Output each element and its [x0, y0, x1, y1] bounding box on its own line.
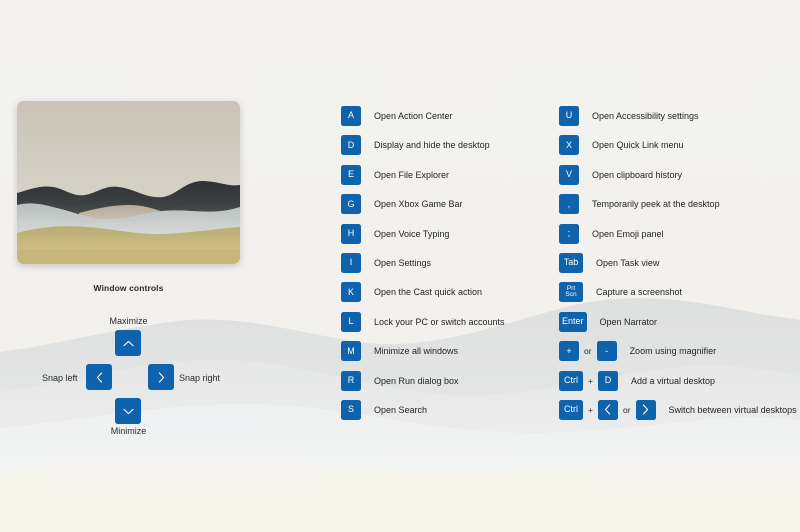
snap-left-label: Snap left — [42, 373, 78, 383]
shortcut-key[interactable]: I — [341, 253, 361, 273]
shortcut-row: AOpen Action Center — [341, 106, 551, 126]
key-joiner: + — [583, 405, 598, 415]
chevron-left-icon — [604, 404, 611, 415]
minimize-label: Minimize — [17, 426, 240, 436]
chevron-right-icon — [642, 404, 649, 415]
shortcut-list-right: UOpen Accessibility settingsXOpen Quick … — [559, 106, 797, 429]
shortcut-row: IOpen Settings — [341, 253, 551, 273]
shortcut-key[interactable]: V — [559, 165, 579, 185]
shortcut-key[interactable]: H — [341, 224, 361, 244]
shortcut-key-label: E — [348, 170, 354, 179]
shortcut-key[interactable]: A — [341, 106, 361, 126]
shortcut-key-label: X — [566, 141, 572, 150]
shortcut-row: MMinimize all windows — [341, 341, 551, 361]
shortcut-row: Ctrl+orSwitch between virtual desktops — [559, 400, 797, 420]
shortcut-row: KOpen the Cast quick action — [341, 282, 551, 302]
shortcut-key-label: A — [348, 111, 354, 120]
shortcut-key[interactable]: K — [341, 282, 361, 302]
shortcut-row: XOpen Quick Link menu — [559, 135, 797, 155]
shortcut-row: EOpen File Explorer — [341, 165, 551, 185]
shortcut-list-left: AOpen Action CenterDDisplay and hide the… — [341, 106, 551, 429]
shortcut-key-label: U — [566, 111, 573, 120]
window-controls-diagram: Window controls Maximize Snap left Snap … — [17, 283, 240, 443]
shortcut-row: ROpen Run dialog box — [341, 371, 551, 391]
shortcut-description: Switch between virtual desktops — [669, 405, 797, 415]
shortcut-key[interactable]: Tab — [559, 253, 583, 273]
shortcut-description: Open Narrator — [600, 317, 658, 327]
shortcut-key[interactable]: - — [597, 341, 617, 361]
shortcut-description: Capture a screenshot — [596, 287, 682, 297]
shortcut-key-label: H — [348, 229, 355, 238]
shortcut-row: ,Temporarily peek at the desktop — [559, 194, 797, 214]
shortcut-key-label: Ctrl — [564, 405, 578, 414]
shortcut-row: Ctrl+DAdd a virtual desktop — [559, 371, 797, 391]
shortcut-key[interactable]: S — [341, 400, 361, 420]
shortcut-key[interactable]: Ctrl — [559, 400, 583, 420]
minimize-button[interactable] — [115, 398, 141, 424]
shortcut-row: EnterOpen Narrator — [559, 312, 797, 332]
window-controls-title: Window controls — [17, 283, 240, 293]
shortcut-key-label: R — [348, 376, 355, 385]
shortcut-row: SOpen Search — [341, 400, 551, 420]
shortcut-row: LLock your PC or switch accounts — [341, 312, 551, 332]
wallpaper-thumbnail — [17, 101, 240, 264]
shortcut-key[interactable]: PrtScn — [559, 282, 583, 302]
shortcut-key-label: G — [347, 200, 354, 209]
shortcut-key[interactable]: M — [341, 341, 361, 361]
shortcut-row: DDisplay and hide the desktop — [341, 135, 551, 155]
shortcut-description: Open Action Center — [374, 111, 453, 121]
shortcut-key[interactable]: G — [341, 194, 361, 214]
shortcut-description: Temporarily peek at the desktop — [592, 199, 720, 209]
shortcut-description: Open Emoji panel — [592, 229, 664, 239]
shortcut-description: Open Xbox Game Bar — [374, 199, 463, 209]
shortcut-description: Open Search — [374, 405, 427, 415]
shortcut-key-sublabel: Scn — [565, 292, 576, 299]
shortcut-description: Open clipboard history — [592, 170, 682, 180]
shortcut-key[interactable]: R — [341, 371, 361, 391]
shortcut-key-label: Ctrl — [564, 376, 578, 385]
chevron-left-icon — [96, 372, 103, 383]
shortcut-key[interactable]: U — [559, 106, 579, 126]
shortcut-key-label: S — [348, 405, 354, 414]
shortcut-key[interactable]: Enter — [559, 312, 587, 332]
shortcut-key-label: M — [347, 347, 355, 356]
shortcut-description: Open Accessibility settings — [592, 111, 699, 121]
shortcut-key[interactable]: E — [341, 165, 361, 185]
shortcut-row: PrtScnCapture a screenshot — [559, 282, 797, 302]
shortcut-description: Add a virtual desktop — [631, 376, 715, 386]
shortcut-row: +or-Zoom using magnifier — [559, 341, 797, 361]
shortcut-key-label: D — [605, 376, 612, 385]
shortcut-row: HOpen Voice Typing — [341, 224, 551, 244]
shortcut-key[interactable]: X — [559, 135, 579, 155]
shortcut-row: VOpen clipboard history — [559, 165, 797, 185]
snap-right-button[interactable] — [148, 364, 174, 390]
shortcut-description: Open Task view — [596, 258, 659, 268]
shortcut-key[interactable]: ; — [559, 224, 579, 244]
shortcut-description: Open Run dialog box — [374, 376, 459, 386]
chevron-down-icon — [123, 408, 134, 415]
shortcut-description: Minimize all windows — [374, 346, 458, 356]
maximize-label: Maximize — [17, 316, 240, 326]
shortcut-key-label: ; — [568, 229, 571, 238]
shortcut-description: Open Settings — [374, 258, 431, 268]
shortcut-description: Display and hide the desktop — [374, 140, 490, 150]
shortcut-key[interactable]: D — [341, 135, 361, 155]
shortcut-key-label: V — [566, 170, 572, 179]
snap-right-label: Snap right — [179, 373, 220, 383]
shortcut-key[interactable]: , — [559, 194, 579, 214]
shortcut-row: UOpen Accessibility settings — [559, 106, 797, 126]
shortcut-key-label: Enter — [562, 317, 584, 326]
snap-left-button[interactable] — [86, 364, 112, 390]
shortcut-row: ;Open Emoji panel — [559, 224, 797, 244]
shortcut-key-label: + — [566, 347, 571, 356]
shortcut-key[interactable]: Ctrl — [559, 371, 583, 391]
shortcut-key[interactable]: D — [598, 371, 618, 391]
shortcut-key-label: - — [605, 347, 608, 356]
shortcut-row: TabOpen Task view — [559, 253, 797, 273]
shortcut-key[interactable]: + — [559, 341, 579, 361]
shortcut-key-label: D — [348, 141, 355, 150]
shortcut-key-label: L — [348, 317, 353, 326]
shortcut-description: Lock your PC or switch accounts — [374, 317, 505, 327]
maximize-button[interactable] — [115, 330, 141, 356]
key-joiner: or — [618, 405, 636, 415]
shortcut-description: Zoom using magnifier — [630, 346, 717, 356]
shortcut-description: Open the Cast quick action — [374, 287, 482, 297]
shortcut-key-label: I — [350, 258, 353, 267]
shortcut-description: Open Voice Typing — [374, 229, 449, 239]
shortcut-key[interactable]: L — [341, 312, 361, 332]
shortcut-row: GOpen Xbox Game Bar — [341, 194, 551, 214]
key-joiner: + — [583, 376, 598, 386]
shortcut-key-label: K — [348, 288, 354, 297]
shortcut-description: Open File Explorer — [374, 170, 449, 180]
chevron-up-icon — [123, 340, 134, 347]
shortcut-key-chevron-left[interactable] — [598, 400, 618, 420]
shortcut-key-label: , — [568, 200, 571, 209]
key-joiner: or — [579, 346, 597, 356]
chevron-right-icon — [158, 372, 165, 383]
shortcut-key-chevron-right[interactable] — [636, 400, 656, 420]
shortcut-description: Open Quick Link menu — [592, 140, 684, 150]
shortcut-key-label: Tab — [564, 258, 579, 267]
